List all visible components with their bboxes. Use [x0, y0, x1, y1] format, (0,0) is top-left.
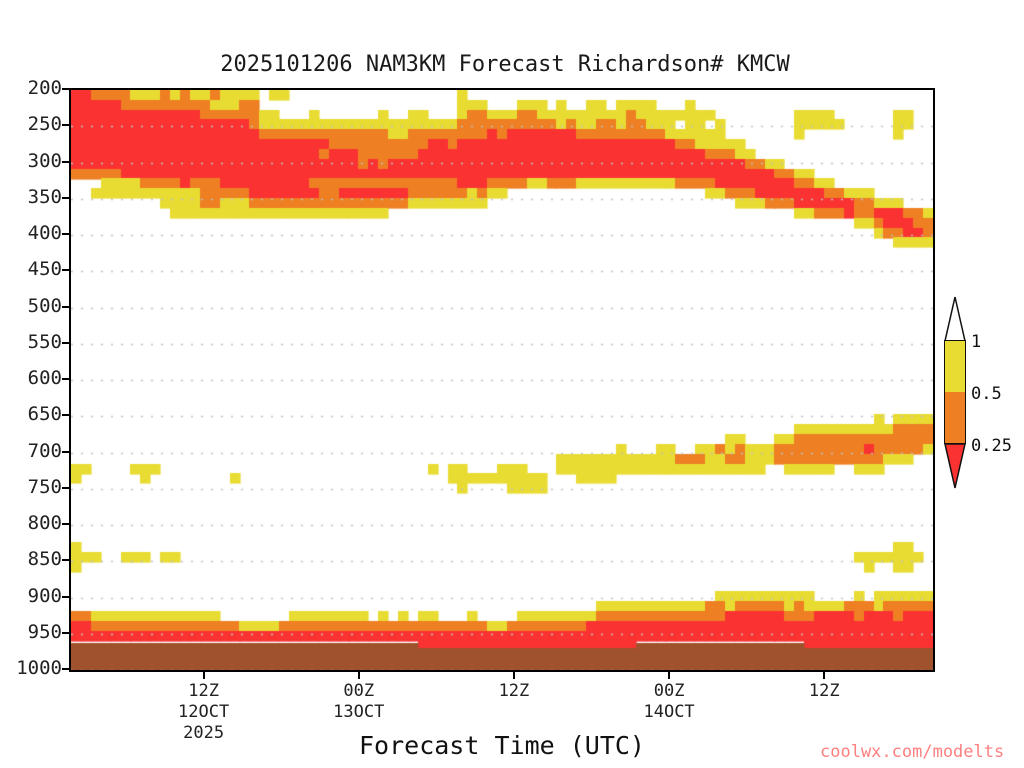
- x-tick-mark: [203, 672, 205, 679]
- y-tick-mark: [62, 451, 69, 453]
- y-tick-label-550: 550: [28, 333, 62, 352]
- colorbar-tick-025: 0.25: [971, 438, 1012, 455]
- y-tick-label-950: 950: [28, 623, 62, 642]
- chart-figure: 2025101206 NAM3KM Forecast Richardson# K…: [0, 0, 1024, 768]
- x-tick-label-group: 00Z 13OCT: [289, 681, 429, 723]
- y-tick-label-850: 850: [28, 550, 62, 569]
- y-tick-label-400: 400: [28, 224, 62, 243]
- x-tick-mark: [823, 672, 825, 679]
- y-tick-label-250: 250: [28, 115, 62, 134]
- y-tick-mark: [62, 378, 69, 380]
- y-tick-label-600: 600: [28, 369, 62, 388]
- y-tick-label-1000: 1000: [16, 659, 62, 678]
- page-title: 2025101206 NAM3KM Forecast Richardson# K…: [0, 52, 1010, 77]
- y-tick-mark: [62, 487, 69, 489]
- y-tick-mark: [62, 197, 69, 199]
- colorbar-body: [944, 340, 966, 444]
- y-tick-mark: [62, 233, 69, 235]
- y-tick-mark: [62, 88, 69, 90]
- y-tick-mark: [62, 414, 69, 416]
- y-tick-mark: [62, 668, 69, 670]
- y-axis-tick-labels: 2002503003504004505005506006507007508008…: [0, 0, 62, 768]
- x-tick-mark: [668, 672, 670, 679]
- y-tick-mark: [62, 161, 69, 163]
- y-tick-label-300: 300: [28, 152, 62, 171]
- y-tick-label-800: 800: [28, 514, 62, 533]
- y-tick-mark: [62, 632, 69, 634]
- colorbar-arrow-top-icon: [944, 296, 966, 342]
- y-tick-mark: [62, 269, 69, 271]
- y-tick-mark: [62, 306, 69, 308]
- y-tick-mark: [62, 596, 69, 598]
- y-tick-label-750: 750: [28, 478, 62, 497]
- colorbar-segment-high: [945, 341, 965, 392]
- x-tick-label-group: 00Z 14OCT: [599, 681, 739, 723]
- x-tick-label-group: 12Z: [444, 681, 584, 702]
- heatmap-canvas: [71, 90, 933, 670]
- y-tick-label-900: 900: [28, 587, 62, 606]
- y-tick-label-200: 200: [28, 79, 62, 98]
- watermark: coolwx.com/modelts: [820, 742, 1004, 762]
- x-tick-label-group: 12Z: [754, 681, 894, 702]
- x-tick-mark: [513, 672, 515, 679]
- y-tick-label-350: 350: [28, 188, 62, 207]
- plot-area: [69, 88, 935, 672]
- y-tick-mark: [62, 559, 69, 561]
- x-tick-mark: [358, 672, 360, 679]
- y-tick-label-450: 450: [28, 260, 62, 279]
- colorbar-legend: 1 0.5 0.25: [941, 296, 969, 552]
- colorbar-segment-mid: [945, 392, 965, 443]
- colorbar-arrow-bottom-icon: [944, 443, 966, 489]
- x-axis-title: Forecast Time (UTC): [69, 731, 935, 760]
- y-tick-label-700: 700: [28, 442, 62, 461]
- y-tick-label-650: 650: [28, 405, 62, 424]
- y-tick-label-500: 500: [28, 297, 62, 316]
- y-tick-mark: [62, 523, 69, 525]
- colorbar-tick-1: 1: [971, 334, 981, 351]
- y-tick-mark: [62, 124, 69, 126]
- y-tick-mark: [62, 342, 69, 344]
- colorbar-tick-05: 0.5: [971, 386, 1002, 403]
